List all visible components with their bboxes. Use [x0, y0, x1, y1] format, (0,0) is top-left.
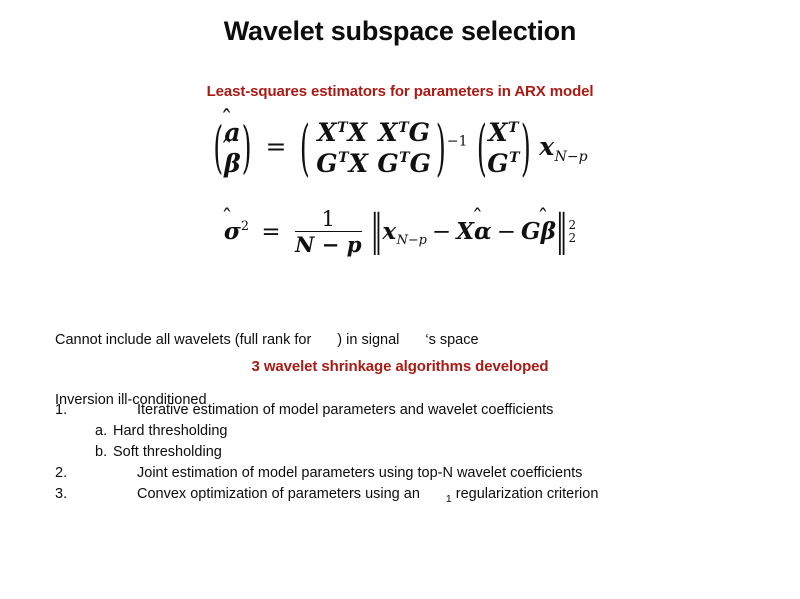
- list-marker-1: 1.: [55, 400, 137, 421]
- norm-index-2-2: 22: [568, 219, 576, 244]
- page-title: Wavelet subspace selection: [0, 16, 800, 47]
- matrix-cell-XTG: XTG: [373, 118, 435, 149]
- fraction-numerator: 1: [295, 207, 362, 231]
- list-item: 3.Convex optimization of parameters usin…: [55, 484, 755, 505]
- list-item: 2.Joint estimation of model parameters u…: [55, 463, 755, 484]
- lhs-vector: ̂âβ: [224, 118, 241, 179]
- list-text-1: Iterative estimation of model parameters…: [137, 402, 553, 418]
- list-marker-1b: b.: [95, 442, 113, 463]
- list-subitem: b.Soft thresholding: [55, 442, 755, 463]
- list-text-2: Joint estimation of model parameters usi…: [137, 465, 582, 481]
- list-marker-1a: a.: [95, 421, 113, 442]
- norm-bar-close: ‖: [556, 208, 568, 256]
- sigma-hat-symbol: ̂σ: [224, 220, 241, 243]
- vector-cell-XT: XT: [488, 118, 518, 149]
- vector-cell-GT: GT: [487, 149, 519, 180]
- list-subitem: a.Hard thresholding: [55, 421, 755, 442]
- cannot-include-part3: ‘s space: [425, 332, 478, 348]
- lhs-paren-close: ): [242, 115, 252, 180]
- list-marker-2: 2.: [55, 463, 137, 484]
- equation-variance-estimate: ̂σ2 = 1 N − p ‖xN−p−X̂α−Ĝβ‖22: [0, 208, 800, 257]
- alpha-hat-symbol: ̂α: [474, 220, 492, 243]
- signal-vector-x: xN−p: [539, 132, 587, 161]
- list-text-1b: Soft thresholding: [113, 444, 222, 460]
- list-item: 1.Iterative estimation of model paramete…: [55, 400, 755, 421]
- beta-hat-symbol: ̂β: [224, 151, 241, 176]
- norm-bar-open: ‖: [371, 208, 383, 256]
- a-hat-symbol: ̂a: [224, 120, 240, 145]
- section-heading-least-squares: Least-squares estimators for parameters …: [0, 83, 800, 100]
- matrix-cell-XTX: XTX: [311, 118, 373, 149]
- equation-least-squares-estimator: (̂âβ) = (XTXXTGGTXGTG)−1 (XTGT) xN−p: [0, 118, 800, 179]
- list-text-1a: Hard thresholding: [113, 423, 227, 439]
- equals-sign: =: [260, 132, 291, 161]
- list-marker-3: 3.: [55, 484, 137, 505]
- design-vector: XTGT: [487, 118, 519, 179]
- fraction-denominator: N − p: [295, 231, 362, 257]
- beta-hat-symbol-2: ̂β: [541, 220, 556, 243]
- slide-canvas: Wavelet subspace selection Least-squares…: [0, 0, 800, 599]
- list-text-3-tail: regularization criterion: [456, 486, 599, 502]
- vector-paren-close: ): [520, 112, 530, 183]
- algorithm-list: 1.Iterative estimation of model paramete…: [55, 400, 755, 505]
- list-text-3-before: Convex optimization of parameters using …: [137, 486, 420, 502]
- line-cannot-include: Cannot include all wavelets (full rank f…: [55, 330, 479, 350]
- equals-sign-variance: =: [256, 219, 285, 245]
- fraction-one-over-n-minus-p: 1 N − p: [295, 207, 362, 256]
- matrix-inverse-exponent: −1: [447, 134, 468, 150]
- vector-paren-open: (: [476, 112, 486, 183]
- matrix-cell-GTG: GTG: [373, 149, 435, 180]
- matrix-paren-close: ): [436, 112, 446, 183]
- lhs-paren-open: (: [213, 115, 223, 180]
- norm-expression: xN−p−X̂α−Ĝβ: [382, 219, 556, 245]
- gram-matrix: XTXXTGGTXGTG: [311, 118, 435, 179]
- matrix-paren-open: (: [300, 112, 310, 183]
- cannot-include-part2: ) in signal: [337, 332, 399, 348]
- matrix-cell-GTX: GTX: [311, 149, 373, 180]
- cannot-include-part1: Cannot include all wavelets (full rank f…: [55, 332, 311, 348]
- section-heading-shrinkage: 3 wavelet shrinkage algorithms developed: [0, 358, 800, 375]
